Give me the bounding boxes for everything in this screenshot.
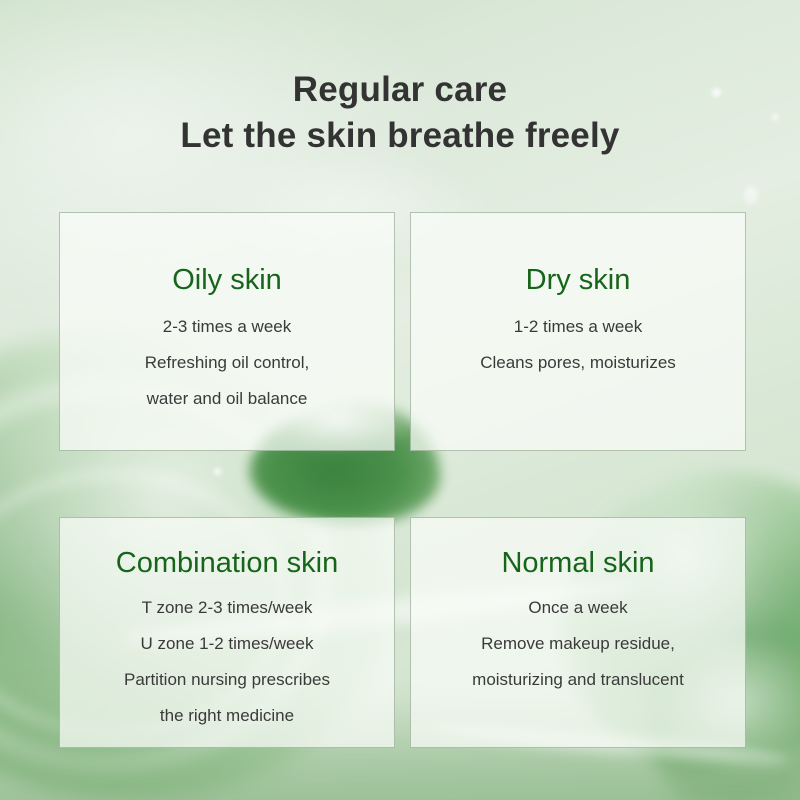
- page-title: Regular care Let the skin breathe freely: [0, 68, 800, 160]
- card-row-top: Oily skin 2-3 times a week Refreshing oi…: [59, 212, 746, 451]
- card-line: Remove makeup residue,: [411, 626, 745, 662]
- card-line: Partition nursing prescribes: [60, 662, 394, 698]
- card-combination-skin[interactable]: Combination skin T zone 2-3 times/week U…: [59, 517, 395, 748]
- page-title-line-2: Let the skin breathe freely: [0, 112, 800, 160]
- skincare-infographic-poster: Regular care Let the skin breathe freely…: [0, 0, 800, 800]
- gel-bubble-speck: [744, 186, 758, 204]
- card-title: Oily skin: [172, 263, 282, 297]
- card-line: moisturizing and translucent: [411, 662, 745, 698]
- card-body: 1-2 times a week Cleans pores, moisturiz…: [411, 309, 745, 381]
- card-line: U zone 1-2 times/week: [60, 626, 394, 662]
- skin-type-card-grid: Oily skin 2-3 times a week Refreshing oi…: [59, 212, 746, 748]
- card-normal-skin[interactable]: Normal skin Once a week Remove makeup re…: [410, 517, 746, 748]
- card-title: Normal skin: [501, 546, 654, 580]
- card-title: Combination skin: [116, 546, 338, 580]
- card-title: Dry skin: [526, 263, 631, 297]
- card-line: Once a week: [411, 590, 745, 626]
- card-line: the right medicine: [60, 698, 394, 734]
- card-line: 1-2 times a week: [411, 309, 745, 345]
- card-line: Cleans pores, moisturizes: [411, 345, 745, 381]
- card-oily-skin[interactable]: Oily skin 2-3 times a week Refreshing oi…: [59, 212, 395, 451]
- card-line: Refreshing oil control,: [60, 345, 394, 381]
- card-line: 2-3 times a week: [60, 309, 394, 345]
- page-title-line-1: Regular care: [0, 68, 800, 112]
- card-body: 2-3 times a week Refreshing oil control,…: [60, 309, 394, 417]
- card-body: Once a week Remove makeup residue, moist…: [411, 590, 745, 698]
- card-dry-skin[interactable]: Dry skin 1-2 times a week Cleans pores, …: [410, 212, 746, 451]
- card-row-bottom: Combination skin T zone 2-3 times/week U…: [59, 517, 746, 748]
- card-line: T zone 2-3 times/week: [60, 590, 394, 626]
- card-line: water and oil balance: [60, 381, 394, 417]
- card-body: T zone 2-3 times/week U zone 1-2 times/w…: [60, 590, 394, 734]
